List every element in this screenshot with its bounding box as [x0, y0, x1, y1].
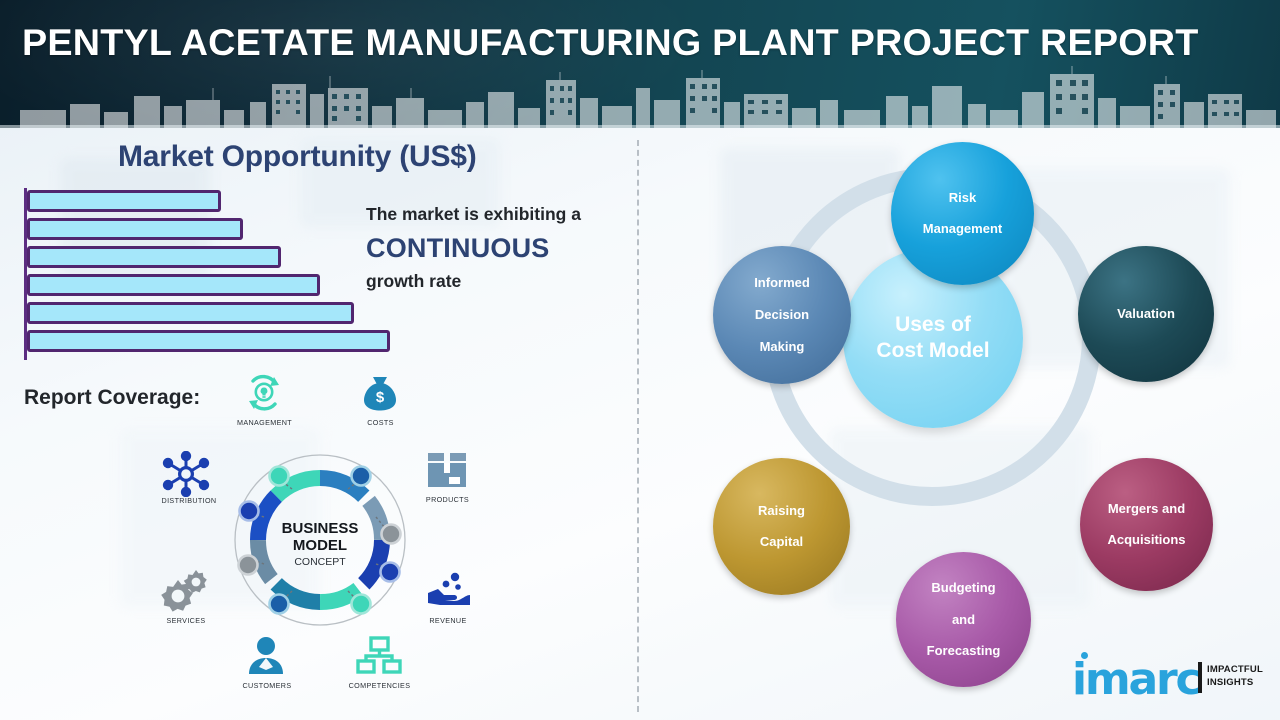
- products-icon: [425, 450, 469, 497]
- uses-of-cost-model-diagram: Uses of Cost Model Risk Management Valua…: [700, 140, 1240, 700]
- blurb-line-3: growth rate: [366, 271, 626, 291]
- node-raising-line-2: Capital: [752, 534, 811, 550]
- business-model-diagram: BUSINESS MODEL CONCEPT MANAGEMENT: [140, 368, 500, 704]
- chart-bar: [27, 218, 243, 240]
- city-skyline-graphic: [0, 66, 1280, 128]
- node-risk-management: Risk Management: [891, 142, 1034, 285]
- node-informed-decision-making: Informed Decision Making: [713, 246, 851, 384]
- node-budgeting-line-2: and: [921, 612, 1007, 628]
- page-header: PENTYL ACETATE MANUFACTURING PLANT PROJE…: [0, 0, 1280, 128]
- slide-root: PENTYL ACETATE MANUFACTURING PLANT PROJE…: [0, 0, 1280, 720]
- distribution-label: DISTRIBUTION: [144, 496, 234, 505]
- distribution-icon: [160, 451, 212, 502]
- chart-bar: [27, 190, 221, 212]
- node-mergers-line-1: Mergers and: [1101, 501, 1191, 517]
- logo-separator-bar: [1198, 662, 1202, 693]
- node-budgeting-line-1: Budgeting: [921, 580, 1007, 596]
- revenue-icon: [424, 571, 472, 616]
- blurb-line-1: The market is exhibiting a: [366, 204, 626, 224]
- panel-divider: [637, 140, 639, 712]
- node-budgeting-forecasting: Budgeting and Forecasting: [896, 552, 1031, 687]
- growth-blurb: The market is exhibiting a CONTINUOUS gr…: [366, 204, 626, 291]
- services-label: SERVICES: [150, 616, 222, 625]
- customers-label: CUSTOMERS: [223, 681, 311, 690]
- products-label: PRODUCTS: [405, 495, 490, 504]
- node-informed-line-3: Making: [748, 339, 816, 355]
- node-valuation-line-1: Valuation: [1111, 306, 1181, 322]
- logo-wordmark: imarc: [1072, 658, 1199, 702]
- svg-text:CONCEPT: CONCEPT: [294, 556, 346, 568]
- node-risk-management-line-2: Management: [917, 221, 1008, 237]
- costs-icon: $: [359, 372, 401, 419]
- chart-bar: [27, 246, 281, 268]
- page-title: PENTYL ACETATE MANUFACTURING PLANT PROJE…: [22, 22, 1198, 64]
- competencies-label: COMPETENCIES: [332, 681, 427, 690]
- node-raising-capital: Raising Capital: [713, 458, 850, 595]
- node-informed-line-2: Decision: [748, 307, 816, 323]
- node-informed-line-1: Informed: [748, 275, 816, 291]
- market-opportunity-bar-chart: [24, 188, 404, 360]
- center-line-1: Uses of: [895, 313, 971, 336]
- services-icon: [160, 568, 210, 617]
- node-valuation: Valuation: [1078, 246, 1214, 382]
- chart-bar: [27, 274, 320, 296]
- node-budgeting-line-3: Forecasting: [921, 643, 1007, 659]
- center-line-2: Cost Model: [876, 339, 989, 362]
- customers-icon: [245, 636, 287, 681]
- node-raising-line-1: Raising: [752, 503, 811, 519]
- blurb-highlight: CONTINUOUS: [366, 231, 626, 266]
- business-model-ring-graphic: BUSINESS MODEL CONCEPT: [140, 368, 500, 704]
- management-label: MANAGEMENT: [217, 418, 312, 427]
- svg-text:MODEL: MODEL: [293, 537, 347, 554]
- market-opportunity-title: Market Opportunity (US$): [118, 140, 477, 174]
- costs-label: COSTS: [338, 418, 423, 427]
- imarc-logo: imarc IMPACTFUL INSIGHTS: [1072, 648, 1268, 706]
- logo-tagline-line-2: INSIGHTS: [1207, 677, 1253, 688]
- svg-text:$: $: [376, 389, 385, 406]
- node-mergers-line-2: Acquisitions: [1101, 532, 1191, 548]
- chart-bar: [27, 330, 390, 352]
- management-icon: [241, 371, 287, 420]
- logo-tagline-line-1: IMPACTFUL: [1207, 664, 1263, 675]
- revenue-label: REVENUE: [408, 616, 488, 625]
- competencies-icon: [355, 636, 403, 681]
- svg-text:BUSINESS: BUSINESS: [282, 520, 359, 537]
- chart-bar: [27, 302, 354, 324]
- node-risk-management-line-1: Risk: [917, 190, 1008, 206]
- node-mergers-acquisitions: Mergers and Acquisitions: [1080, 458, 1213, 591]
